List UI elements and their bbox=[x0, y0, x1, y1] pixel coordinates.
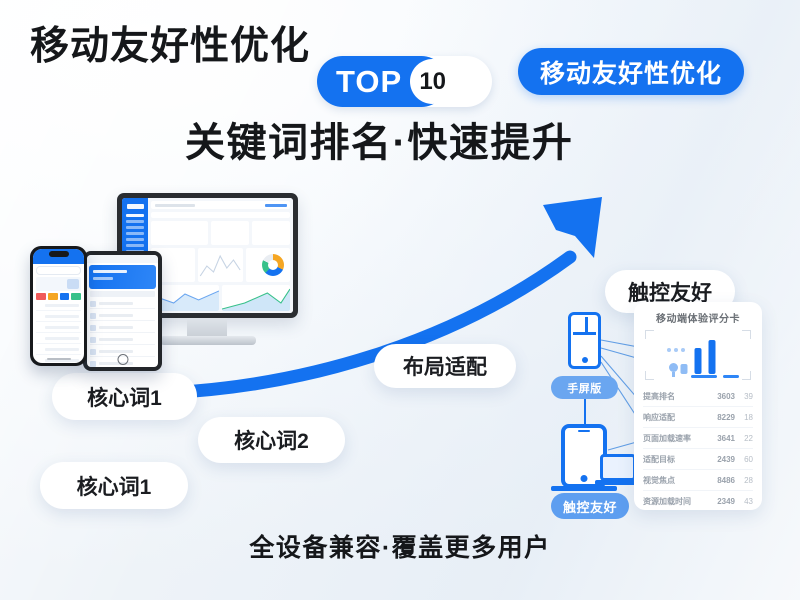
top-10-badge: TOP 10 bbox=[317, 56, 492, 107]
phone-screen bbox=[33, 249, 84, 363]
page-title: 移动友好性优化 bbox=[30, 27, 310, 66]
dashboard-breadcrumb bbox=[151, 212, 290, 218]
row-label: 页面加载速率 bbox=[643, 433, 709, 444]
tablet-statusbar bbox=[87, 255, 158, 263]
chart-bar bbox=[681, 364, 688, 374]
dashboard-bottom-row bbox=[151, 285, 290, 311]
line-chart-icon bbox=[198, 248, 242, 282]
app-icon bbox=[60, 293, 70, 300]
device-network-diagram: 手屏版 触控友好 bbox=[548, 310, 646, 505]
dashboard-nav-item bbox=[126, 232, 144, 235]
row-delta: 43 bbox=[735, 497, 753, 506]
phone-promo-card bbox=[36, 277, 81, 291]
small-phone-button bbox=[582, 357, 588, 363]
tablet-home-button bbox=[117, 354, 128, 365]
row-label: 提高排名 bbox=[643, 391, 709, 402]
row-delta: 39 bbox=[735, 392, 753, 401]
dashboard-topbar bbox=[151, 201, 290, 209]
row-delta: 28 bbox=[735, 476, 753, 485]
dashboard-card bbox=[211, 221, 249, 245]
table-row: 提高排名 3603 39 bbox=[643, 386, 753, 407]
network-vertical-line bbox=[584, 399, 586, 425]
list-item bbox=[90, 335, 155, 345]
row-value: 2349 bbox=[709, 497, 735, 506]
dashboard-content bbox=[148, 198, 293, 313]
table-row: 页面加载速率 3641 22 bbox=[643, 428, 753, 449]
monitor-stand-base bbox=[160, 336, 256, 345]
tablet-hero-banner bbox=[89, 265, 156, 289]
phone-mockup bbox=[30, 246, 87, 366]
chart-baseline bbox=[691, 375, 717, 378]
dashboard-trend-card bbox=[222, 285, 290, 311]
table-row: 资源加载时间 2349 43 bbox=[643, 491, 753, 511]
row-value: 8486 bbox=[709, 476, 735, 485]
keyword-pill-2[interactable]: 核心词2 bbox=[198, 417, 345, 463]
dashboard-nav-item bbox=[126, 238, 144, 241]
top-badge-number: 10 bbox=[410, 59, 455, 104]
dashboard-donut-card bbox=[246, 248, 290, 282]
dashboard-nav-item bbox=[126, 244, 144, 247]
bracket-corner-icon bbox=[742, 330, 751, 339]
table-row: 视觉焦点 8486 28 bbox=[643, 470, 753, 491]
row-label: 资源加载时间 bbox=[643, 496, 709, 507]
list-item bbox=[36, 302, 81, 311]
row-value: 8229 bbox=[709, 413, 735, 422]
phone-home-indicator bbox=[47, 358, 71, 360]
page-subtitle: 关键词排名·快速提升 bbox=[185, 123, 573, 163]
bracket-corner-icon bbox=[645, 330, 654, 339]
device-platform-base bbox=[551, 486, 617, 491]
row-label: 视觉焦点 bbox=[643, 475, 709, 486]
dashboard-card bbox=[151, 221, 208, 245]
list-item bbox=[36, 313, 81, 322]
touch-friendly-badge: 触控友好 bbox=[551, 493, 629, 519]
dashboard-chart-row bbox=[151, 248, 290, 282]
list-item bbox=[36, 324, 81, 333]
list-item bbox=[90, 299, 155, 309]
trend-chart-icon bbox=[222, 285, 290, 311]
phone-frame bbox=[30, 246, 87, 366]
mobile-score-card: 移动端体验评分卡 提高排名 3603 39 响应适配 bbox=[634, 302, 762, 510]
row-delta: 60 bbox=[735, 455, 753, 464]
phone-notch bbox=[49, 251, 69, 257]
chart-bars bbox=[681, 336, 716, 374]
list-item bbox=[36, 335, 81, 344]
split-screen-badge: 手屏版 bbox=[551, 376, 618, 399]
row-value: 3603 bbox=[709, 392, 735, 401]
layout-pill[interactable]: 布局适配 bbox=[374, 344, 516, 388]
row-delta: 18 bbox=[735, 413, 753, 422]
search-input[interactable] bbox=[36, 266, 81, 275]
footer-tagline: 全设备兼容·覆盖更多用户 bbox=[0, 528, 800, 564]
donut-chart-icon bbox=[262, 254, 284, 276]
tablet-frame bbox=[83, 251, 162, 371]
chart-pin-icon bbox=[669, 363, 678, 372]
large-phone-button bbox=[581, 475, 588, 482]
list-item bbox=[90, 323, 155, 333]
dashboard-nav-item bbox=[126, 220, 144, 223]
dashboard-card bbox=[252, 221, 290, 245]
row-value: 3641 bbox=[709, 434, 735, 443]
row-delta: 22 bbox=[735, 434, 753, 443]
dashboard-line-chart-card bbox=[198, 248, 242, 282]
laptop-icon bbox=[600, 454, 636, 481]
small-phone-icon bbox=[568, 312, 601, 369]
monitor-stand-neck bbox=[187, 318, 227, 337]
app-icon bbox=[71, 293, 81, 300]
tablet-screen bbox=[87, 255, 158, 367]
app-icon bbox=[48, 293, 58, 300]
row-label: 适配目标 bbox=[643, 454, 709, 465]
chart-bar bbox=[695, 348, 702, 374]
dashboard-logo bbox=[127, 204, 144, 209]
tablet-tabbar bbox=[90, 291, 155, 297]
keyword-pill-3[interactable]: 核心词1 bbox=[40, 462, 188, 509]
phone-icon-row bbox=[36, 293, 81, 300]
corner-pill-badge: 移动友好性优化 bbox=[518, 48, 744, 95]
tablet-mockup bbox=[83, 251, 162, 371]
arrow-head bbox=[543, 197, 602, 258]
chart-baseline bbox=[723, 375, 739, 378]
score-card-title: 移动端体验评分卡 bbox=[643, 310, 753, 325]
app-icon bbox=[36, 293, 46, 300]
chart-bar bbox=[709, 340, 716, 374]
device-mockups bbox=[30, 193, 320, 373]
table-row: 适配目标 2439 60 bbox=[643, 449, 753, 470]
row-value: 2439 bbox=[709, 455, 735, 464]
large-phone-speaker bbox=[578, 430, 590, 432]
table-row: 响应适配 8229 18 bbox=[643, 407, 753, 428]
bracket-corner-icon bbox=[645, 371, 654, 380]
score-card-chart bbox=[645, 330, 751, 380]
poster-canvas: 移动友好性优化 TOP 10 移动友好性优化 关键词排名·快速提升 bbox=[0, 0, 800, 600]
dashboard-nav-item bbox=[126, 214, 144, 217]
list-item bbox=[90, 311, 155, 321]
bracket-corner-icon bbox=[742, 371, 751, 380]
score-card-rows: 提高排名 3603 39 响应适配 8229 18 页面加载速率 3641 22… bbox=[643, 386, 753, 511]
dashboard-nav-item bbox=[126, 226, 144, 229]
row-label: 响应适配 bbox=[643, 412, 709, 423]
top-badge-word: TOP bbox=[336, 64, 402, 100]
dashboard-filter-row bbox=[151, 221, 290, 245]
list-item bbox=[36, 346, 81, 355]
keyword-pill-1[interactable]: 核心词1 bbox=[52, 373, 197, 420]
